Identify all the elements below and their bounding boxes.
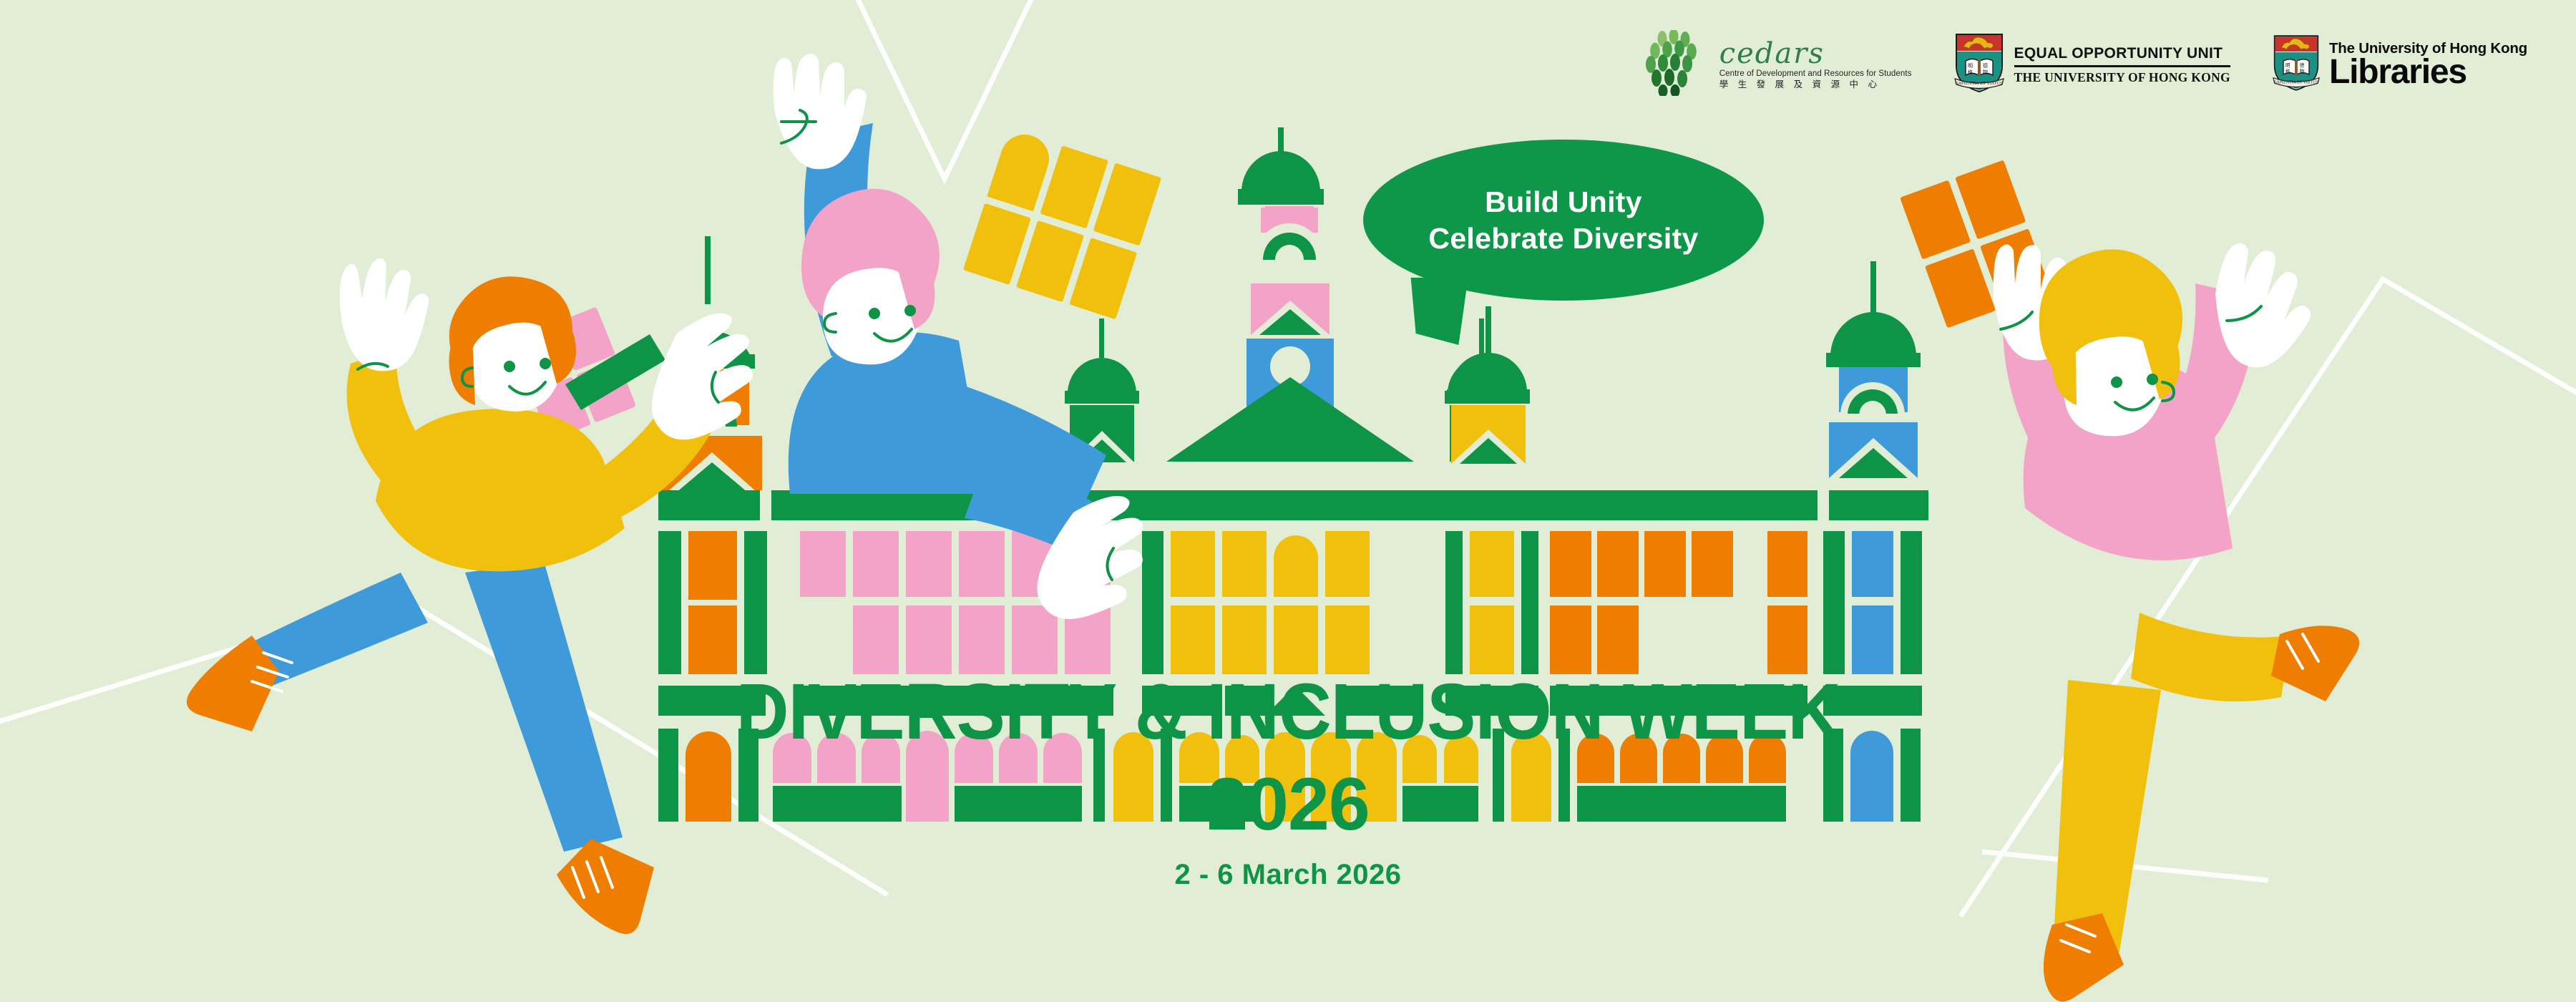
hku-shield-icon: 明德 格物 SAPIENTIA ET VIRTUS <box>1953 31 2005 98</box>
svg-text:德: 德 <box>1983 62 1988 69</box>
svg-text:物: 物 <box>2300 68 2305 74</box>
speech-bubble-line-2: Celebrate Diversity <box>1428 220 1698 256</box>
svg-text:格: 格 <box>1968 69 1973 75</box>
hand-right-lifting <box>2215 243 2311 367</box>
eou-title: EQUAL OPPORTUNITY UNIT <box>2014 45 2230 62</box>
hand-left <box>340 258 429 371</box>
window-block-yellow <box>963 128 1161 319</box>
svg-text:德: 德 <box>2300 62 2305 69</box>
svg-text:明: 明 <box>1968 63 1973 69</box>
speech-bubble-text: Build Unity Celebrate Diversity <box>1363 140 1764 301</box>
logo-equal-opportunity-unit: 明德 格物 SAPIENTIA ET VIRTUS EQUAL OPPORTUN… <box>1953 31 2230 98</box>
eou-divider <box>2014 65 2230 67</box>
svg-text:物: 物 <box>1983 69 1988 75</box>
svg-text:格: 格 <box>2285 68 2290 74</box>
svg-text:SAPIENTIA ET VIRTUS: SAPIENTIA ET VIRTUS <box>2274 80 2318 84</box>
title-block: DIVERSITY & INCLUSION WEEK 2026 2 - 6 Ma… <box>0 673 2576 889</box>
cedars-wordmark: cedars <box>1719 39 1912 68</box>
hku-shield-icon: 明德 格物 SAPIENTIA ET VIRTUS <box>2272 33 2321 97</box>
logo-bar: cedars Centre of Development and Resourc… <box>1641 30 2527 99</box>
logo-hku-libraries: 明德 格物 SAPIENTIA ET VIRTUS The University… <box>2272 33 2527 97</box>
libraries-text-block: The University of Hong Kong Libraries <box>2329 42 2527 89</box>
cedars-subtitle: Centre of Development and Resources for … <box>1719 69 1912 79</box>
page-title: DIVERSITY & INCLUSION WEEK <box>90 673 2486 751</box>
logo-cedars: cedars Centre of Development and Resourc… <box>1641 30 1912 99</box>
title-dates: 2 - 6 March 2026 <box>0 860 2576 889</box>
speech-bubble: Build Unity Celebrate Diversity <box>1363 140 1764 301</box>
building-tower-right-blue <box>1822 261 1926 478</box>
building-upper-window-band <box>658 531 1922 674</box>
title-year: 2026 <box>0 767 2576 842</box>
eou-text-block: EQUAL OPPORTUNITY UNIT THE UNIVERSITY OF… <box>2014 45 2230 84</box>
cedars-tree-icon <box>1641 30 1709 99</box>
libraries-wordmark: Libraries <box>2329 57 2527 88</box>
cedars-chinese-name: 學 生 發 展 及 資 源 中 心 <box>1719 79 1912 90</box>
eou-university-name: THE UNIVERSITY OF HONG KONG <box>2014 70 2230 84</box>
svg-text:SAPIENTIA ET VIRTUS: SAPIENTIA ET VIRTUS <box>1956 82 2003 86</box>
building-cornice-top <box>658 490 1928 520</box>
speech-bubble-line-1: Build Unity <box>1485 184 1642 220</box>
banner-root: .grn{fill:#0d9447}.ylw{fill:#f0c00c}.org… <box>0 0 2576 1002</box>
svg-text:明: 明 <box>2285 63 2290 69</box>
cedars-text-block: cedars Centre of Development and Resourc… <box>1719 39 1912 90</box>
